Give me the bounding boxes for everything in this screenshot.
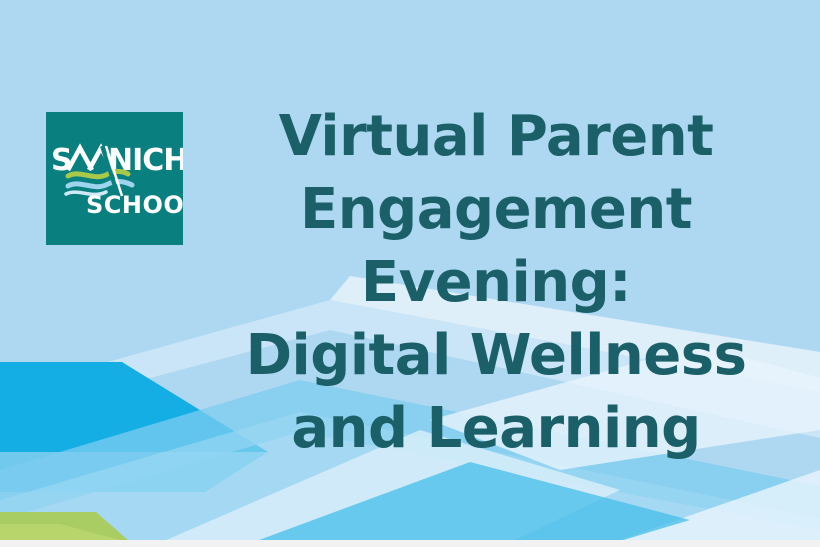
- title-line-5: and Learning: [196, 392, 796, 465]
- title-line-1: Virtual Parent: [196, 100, 796, 173]
- logo-background: [46, 112, 183, 245]
- title-line-3: Evening:: [196, 246, 796, 319]
- bottom-strip: [0, 540, 820, 547]
- title-line-2: Engagement: [196, 173, 796, 246]
- saanich-schools-logo-mark: S NICH SCHOOLS: [46, 112, 183, 245]
- title-line-4: Digital Wellness: [196, 319, 796, 392]
- saanich-schools-logo: S NICH SCHOOLS: [46, 112, 183, 245]
- presentation-slide: S NICH SCHOOLS Virtual Parent Engagement…: [0, 0, 820, 547]
- page-title: Virtual Parent Engagement Evening: Digit…: [196, 100, 796, 465]
- logo-wordmark-schools: SCHOOLS: [86, 191, 183, 219]
- logo-wordmark-saanich: S: [51, 143, 72, 178]
